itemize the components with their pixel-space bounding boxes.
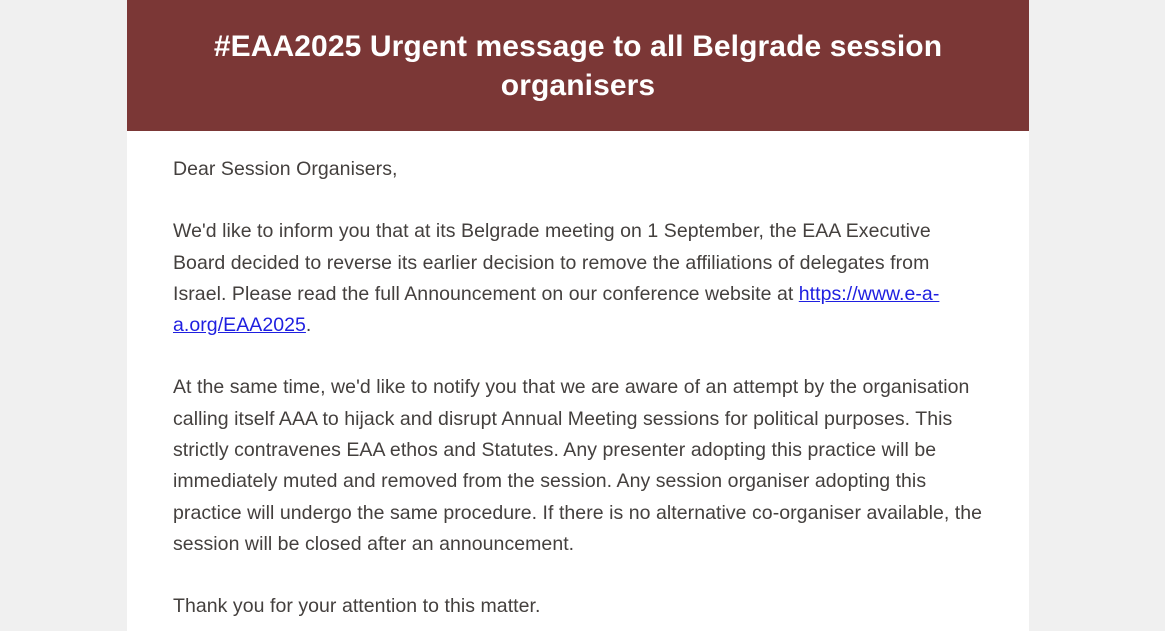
email-header-title: #EAA2025 Urgent message to all Belgrade … [179,27,977,105]
paragraph-1: We'd like to inform you that at its Belg… [173,216,984,341]
paragraph-3: Thank you for your attention to this mat… [173,591,984,622]
email-header-banner: #EAA2025 Urgent message to all Belgrade … [127,0,1029,131]
body-top-spacer [173,131,984,154]
salutation-text: Dear Session Organisers, [173,154,984,185]
paragraph-spacer [173,341,984,372]
paragraph-spacer [173,185,984,216]
page-background: #EAA2025 Urgent message to all Belgrade … [0,0,1165,631]
email-body: Dear Session Organisers, We'd like to in… [127,131,1029,623]
email-card: #EAA2025 Urgent message to all Belgrade … [127,0,1029,631]
paragraph-1-end: . [306,314,311,336]
paragraph-spacer [173,560,984,591]
paragraph-2: At the same time, we'd like to notify yo… [173,372,984,560]
